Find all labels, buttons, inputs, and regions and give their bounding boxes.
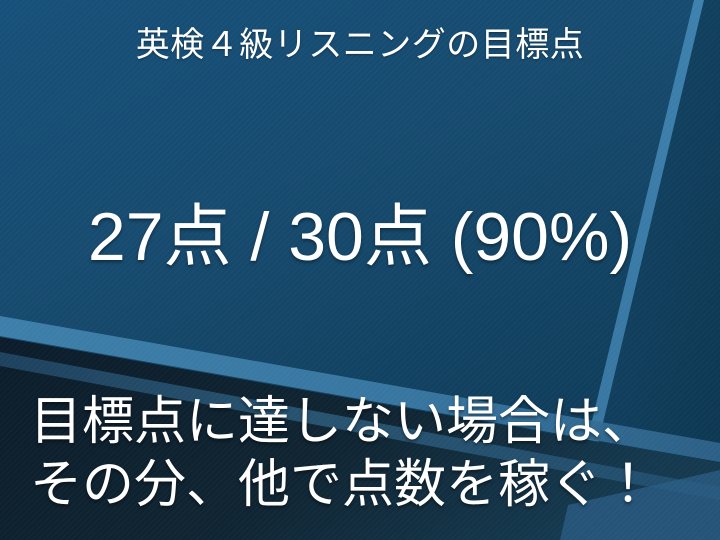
slide-body: 目標点に達しない場合は、 その分、他で点数を稼ぐ！ <box>30 392 702 515</box>
slide-title: 英検４級リスニングの目標点 <box>0 24 720 66</box>
score-headline: 27点 / 30点 (90%) <box>0 196 720 278</box>
slide-text-layer: 英検４級リスニングの目標点 27点 / 30点 (90%) 目標点に達しない場合… <box>0 0 720 540</box>
presentation-slide: 英検４級リスニングの目標点 27点 / 30点 (90%) 目標点に達しない場合… <box>0 0 720 540</box>
body-line-2: その分、他で点数を稼ぐ！ <box>30 455 702 515</box>
body-line-1: 目標点に達しない場合は、 <box>30 392 702 452</box>
